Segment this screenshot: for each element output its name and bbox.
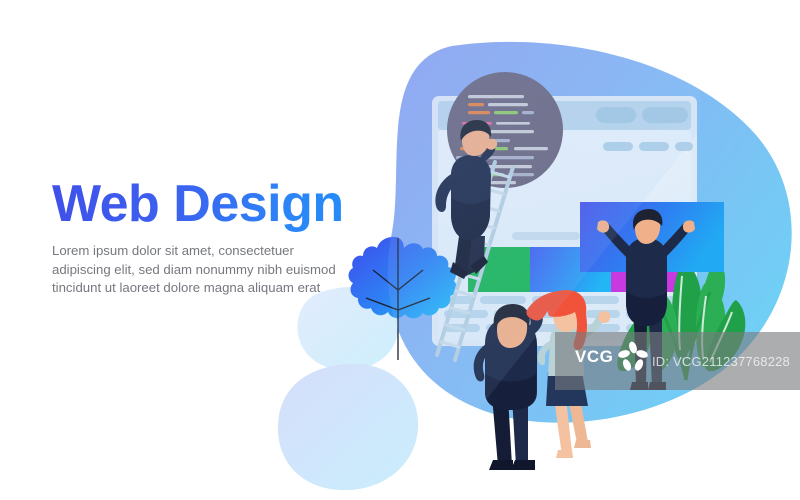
lifter-shoe — [648, 382, 666, 390]
small-blob-lower — [278, 364, 418, 490]
lifter-leg — [634, 320, 647, 386]
illustration-canvas: Web Design Lorem ipsum dolor sit amet, c… — [0, 0, 800, 500]
lifter-shoe — [630, 382, 648, 390]
man-shoe — [489, 460, 513, 470]
woman-foot — [556, 450, 573, 458]
body-copy: Lorem ipsum dolor sit amet, consectetuer… — [52, 242, 352, 298]
lifter-hand-right — [683, 220, 695, 232]
copy-block: Web Design Lorem ipsum dolor sit amet, c… — [52, 176, 382, 298]
page-title: Web Design — [52, 176, 382, 232]
woman-foot — [574, 440, 591, 448]
woman-skirt — [546, 372, 588, 406]
man-shoe — [511, 460, 535, 470]
